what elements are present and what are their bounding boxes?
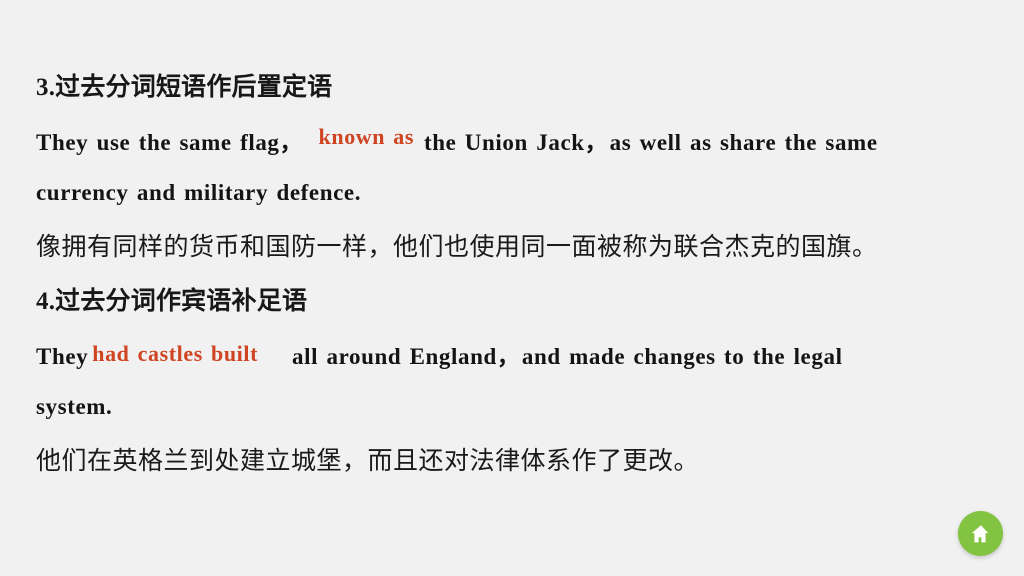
section-3-eng-comma1: ， [280, 129, 305, 155]
section-4-heading-text: 过去分词作宾语补足语 [55, 287, 307, 315]
section-3-chinese-translation: 像拥有同样的货币和国防一样，他们也使用同一面被称为联合杰克的国旗。 [36, 224, 996, 270]
section-4-highlight-phrase: had castles built [88, 341, 292, 366]
section-4-eng-part1: They [36, 344, 88, 369]
section-4-chinese-translation: 他们在英格兰到处建立城堡，而且还对法律体系作了更改。 [36, 438, 996, 484]
section-3-english-sentence: They use the same flag，known asthe Union… [36, 117, 996, 168]
section-4: 4.过去分词作宾语补足语 Theyhad castles builtall ar… [36, 284, 996, 484]
section-3-heading-number: 3. [36, 74, 55, 101]
section-4-heading: 4.过去分词作宾语补足语 [36, 284, 996, 319]
section-4-english-line2: system. [36, 382, 996, 432]
spacer [36, 270, 996, 284]
home-icon [969, 522, 993, 546]
slide-content: 3.过去分词短语作后置定语 They use the same flag，kno… [36, 70, 996, 484]
section-4-eng-part2: all around England [292, 344, 497, 369]
section-4-heading-number: 4. [36, 288, 55, 315]
home-button[interactable] [958, 511, 1003, 556]
section-4-eng-comma2: ， [497, 343, 522, 369]
section-3-english-line2: currency and military defence. [36, 168, 996, 218]
section-3-eng-part1: They use the same flag [36, 130, 280, 155]
section-3-heading-text: 过去分词短语作后置定语 [55, 73, 332, 101]
slide-canvas: 3.过去分词短语作后置定语 They use the same flag，kno… [0, 0, 1024, 576]
section-3-eng-part2: the Union Jack [424, 130, 585, 155]
section-4-english-sentence: Theyhad castles builtall around England，… [36, 331, 996, 382]
section-4-eng-part3: and made changes to the legal [522, 344, 843, 369]
section-3-heading: 3.过去分词短语作后置定语 [36, 70, 996, 105]
section-3: 3.过去分词短语作后置定语 They use the same flag，kno… [36, 70, 996, 270]
section-3-eng-comma2: ， [585, 129, 610, 155]
section-3-highlight-phrase: known as [305, 124, 424, 149]
section-3-eng-part3: as well as share the same [610, 130, 878, 155]
